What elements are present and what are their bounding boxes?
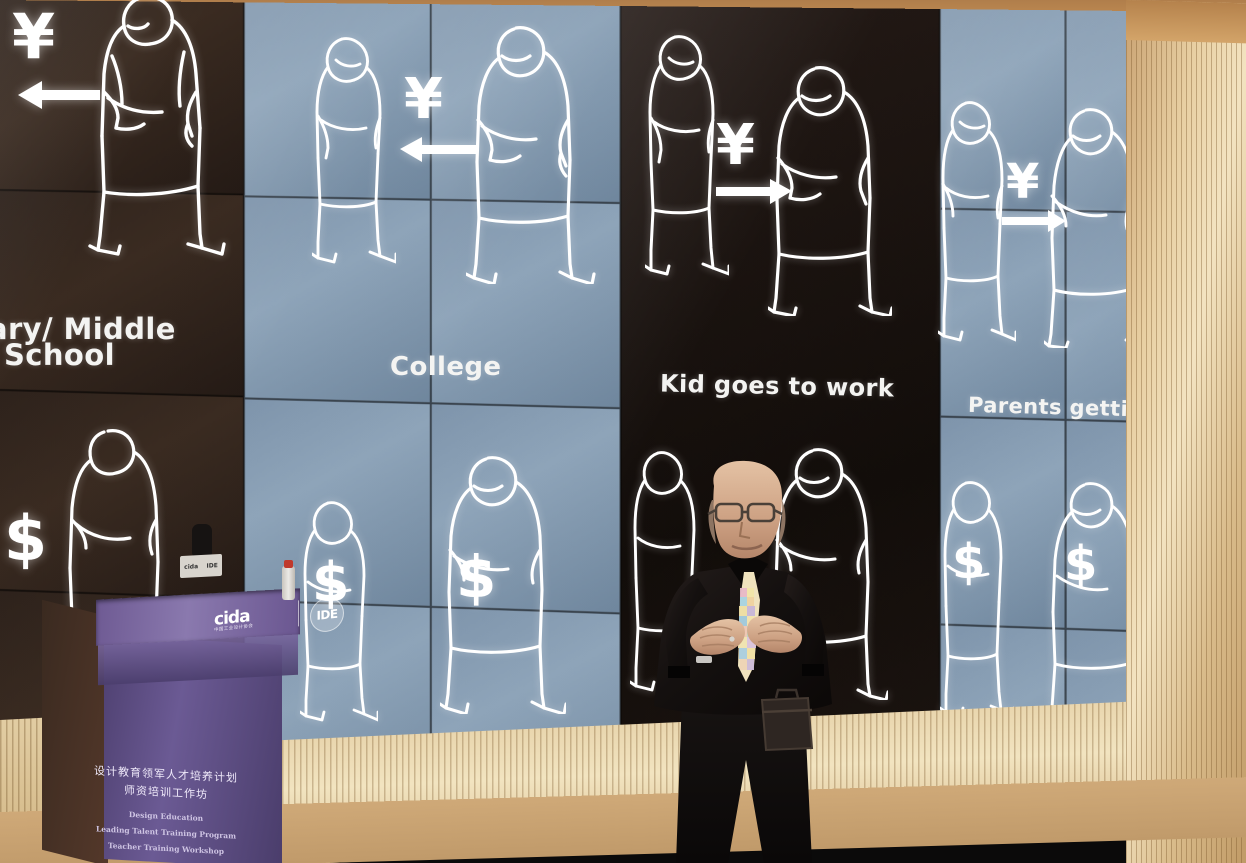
screenshot-root: ¥ a	[0, 0, 1246, 863]
currency-dollar-panel-2-adult: $	[456, 548, 496, 606]
figure-child-panel-2	[312, 36, 396, 274]
logo-divider	[298, 600, 299, 626]
currency-yen-panel-2: ¥	[404, 72, 443, 128]
currency-dollar-panel-4-child: $	[952, 538, 985, 586]
currency-yen-panel-3: ¥	[716, 118, 755, 174]
slide-caption-2: College	[390, 352, 501, 382]
currency-yen-panel-1: ¥	[12, 6, 55, 68]
figure-child-panel-4-bottom	[940, 480, 1014, 728]
microphone	[192, 524, 212, 556]
nameplate-ide: IDE	[207, 562, 218, 570]
speaker-person	[636, 460, 856, 863]
currency-dollar-panel-1: $	[4, 508, 47, 570]
nameplate-cida: cida	[184, 563, 198, 571]
figure-adult-panel-2	[466, 26, 596, 284]
water-bottle	[282, 566, 295, 600]
figure-adult-panel-1	[88, 0, 238, 260]
slide-caption-3: Kid goes to work	[660, 370, 895, 403]
slide-caption-1-line2: School	[4, 338, 115, 372]
currency-yen-panel-4: ¥	[1006, 158, 1039, 206]
podium-nameplate: cida IDE	[180, 554, 222, 578]
podium: cida 中国工业设计协会 IDE 设计教育领军人才培养计划 师资培训工作坊 D…	[20, 588, 300, 863]
wall-panel-right	[1126, 0, 1246, 863]
wall-panel-right-header	[1126, 0, 1246, 43]
figure-adult-panel-3	[768, 66, 892, 316]
currency-dollar-panel-4-adult: $	[1064, 540, 1097, 588]
